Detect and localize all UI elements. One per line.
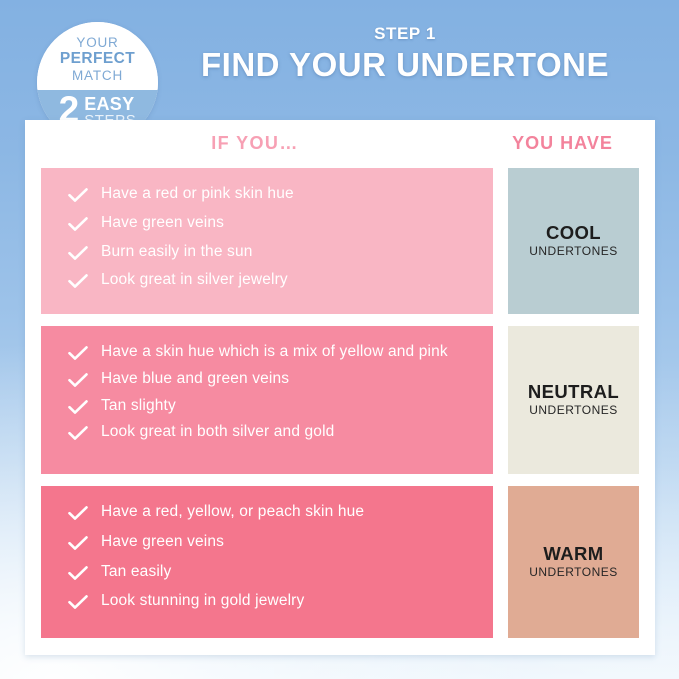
check-icon (68, 591, 90, 610)
column-header-you-have: YOU HAVE (480, 133, 645, 154)
column-headers: IF YOU… YOU HAVE (25, 133, 655, 165)
undertone-swatch-neutral: NEUTRAL UNDERTONES (508, 326, 639, 474)
check-icon (68, 242, 90, 261)
undertone-name: WARM (543, 543, 603, 564)
badge-line-perfect: PERFECT (60, 50, 135, 68)
badge-line-your: YOUR (76, 35, 118, 50)
check-icon (68, 184, 90, 203)
check-icon (68, 369, 90, 388)
undertone-swatch-cool: COOL UNDERTONES (508, 168, 639, 314)
page-title: FIND YOUR UNDERTONE (150, 46, 660, 85)
check-icon (68, 213, 90, 232)
page-header: STEP 1 FIND YOUR UNDERTONE (150, 24, 660, 85)
table-row: Have a skin hue which is a mix of yellow… (41, 326, 639, 474)
criteria-list-neutral: Have a skin hue which is a mix of yellow… (41, 326, 493, 474)
list-item: Look stunning in gold jewelry (68, 591, 479, 611)
check-icon (68, 532, 90, 551)
list-item: Look great in silver jewelry (68, 270, 479, 290)
list-item-label: Have blue and green veins (101, 369, 289, 389)
content-card: IF YOU… YOU HAVE Have a red or pink skin… (25, 120, 655, 655)
undertone-sublabel: UNDERTONES (529, 565, 618, 581)
badge-line-match: MATCH (72, 68, 123, 84)
criteria-list-cool: Have a red or pink skin hue Have green v… (41, 168, 493, 314)
list-item-label: Look great in silver jewelry (101, 270, 288, 290)
list-item-label: Have a red or pink skin hue (101, 184, 294, 204)
column-header-if-you: IF YOU… (35, 133, 475, 154)
undertone-sublabel: UNDERTONES (529, 244, 618, 260)
list-item-label: Have a red, yellow, or peach skin hue (101, 502, 364, 522)
undertone-name: COOL (546, 222, 601, 243)
list-item: Tan easily (68, 562, 479, 582)
check-icon (68, 396, 90, 415)
list-item: Have a skin hue which is a mix of yellow… (68, 342, 479, 362)
list-item-label: Burn easily in the sun (101, 242, 253, 262)
list-item: Tan slighty (68, 396, 479, 416)
list-item-label: Look stunning in gold jewelry (101, 591, 304, 611)
table-row: Have a red, yellow, or peach skin hue Ha… (41, 486, 639, 638)
list-item-label: Tan easily (101, 562, 171, 582)
check-icon (68, 270, 90, 289)
list-item-label: Look great in both silver and gold (101, 422, 334, 442)
list-item: Have green veins (68, 213, 479, 233)
list-item-label: Have green veins (101, 532, 224, 552)
list-item-label: Have a skin hue which is a mix of yellow… (101, 342, 448, 362)
list-item-label: Tan slighty (101, 396, 176, 416)
list-item: Burn easily in the sun (68, 242, 479, 262)
infographic-canvas: YOUR PERFECT MATCH 2 EASY STEPS STEP 1 F… (0, 0, 679, 679)
check-icon (68, 502, 90, 521)
list-item: Look great in both silver and gold (68, 422, 479, 442)
check-icon (68, 422, 90, 441)
badge-top-half: YOUR PERFECT MATCH (37, 22, 158, 90)
undertone-swatch-warm: WARM UNDERTONES (508, 486, 639, 638)
step-label: STEP 1 (150, 24, 660, 44)
list-item: Have a red or pink skin hue (68, 184, 479, 204)
table-row: Have a red or pink skin hue Have green v… (41, 168, 639, 314)
criteria-list-warm: Have a red, yellow, or peach skin hue Ha… (41, 486, 493, 638)
list-item-label: Have green veins (101, 213, 224, 233)
check-icon (68, 562, 90, 581)
list-item: Have green veins (68, 532, 479, 552)
list-item: Have a red, yellow, or peach skin hue (68, 502, 479, 522)
undertone-name: NEUTRAL (528, 381, 619, 402)
list-item: Have blue and green veins (68, 369, 479, 389)
badge-label-easy: EASY (84, 95, 136, 113)
undertone-sublabel: UNDERTONES (529, 403, 618, 419)
check-icon (68, 342, 90, 361)
